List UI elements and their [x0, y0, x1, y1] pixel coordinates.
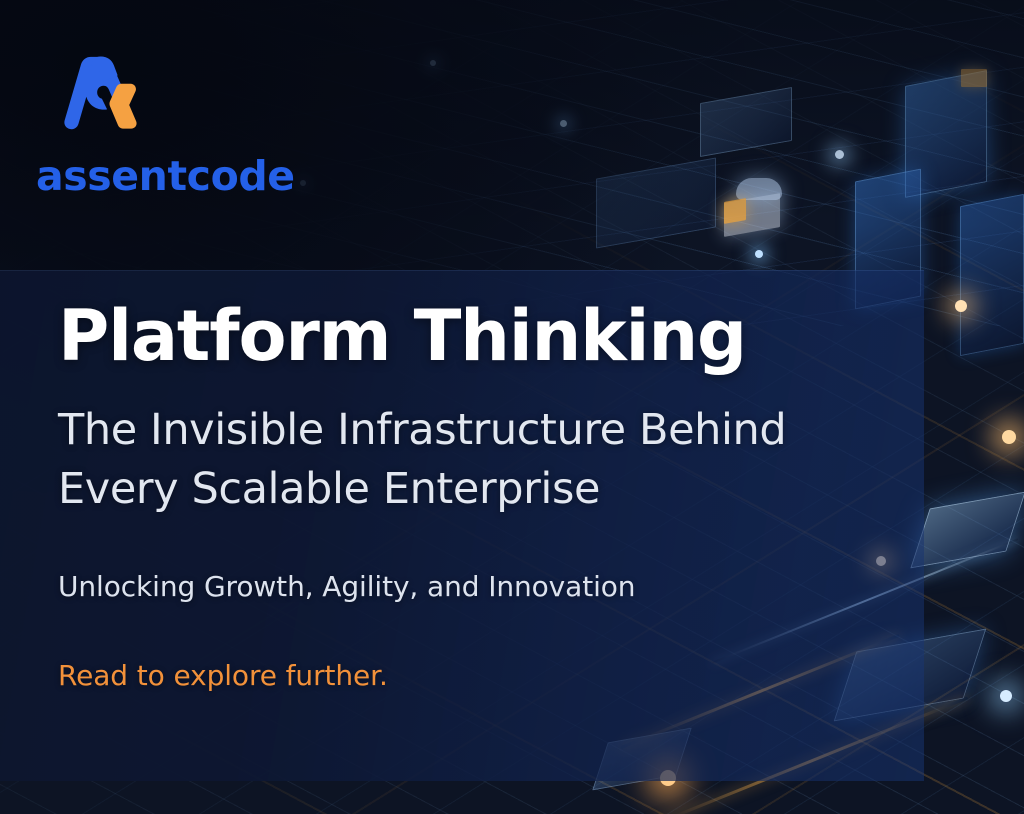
- hero-headline: Platform Thinking: [58, 300, 888, 373]
- hero-subheadline: The Invisible Infrastructure Behind Ever…: [58, 401, 888, 520]
- brand-logo[interactable]: assentcode: [58, 50, 378, 197]
- social-card-poster: assentcode Platform Thinking The Invisib…: [0, 0, 1024, 814]
- assentcode-a-logo-icon: [58, 50, 150, 142]
- hero-tagline: Unlocking Growth, Agility, and Innovatio…: [58, 569, 888, 605]
- brand-wordmark: assentcode: [36, 156, 378, 197]
- hero-content: Platform Thinking The Invisible Infrastr…: [58, 300, 888, 694]
- hero-subheadline-line-2: Every Scalable Enterprise: [58, 460, 888, 519]
- hero-cta-text[interactable]: Read to explore further.: [58, 658, 888, 694]
- hero-subheadline-line-1: The Invisible Infrastructure Behind: [58, 401, 888, 460]
